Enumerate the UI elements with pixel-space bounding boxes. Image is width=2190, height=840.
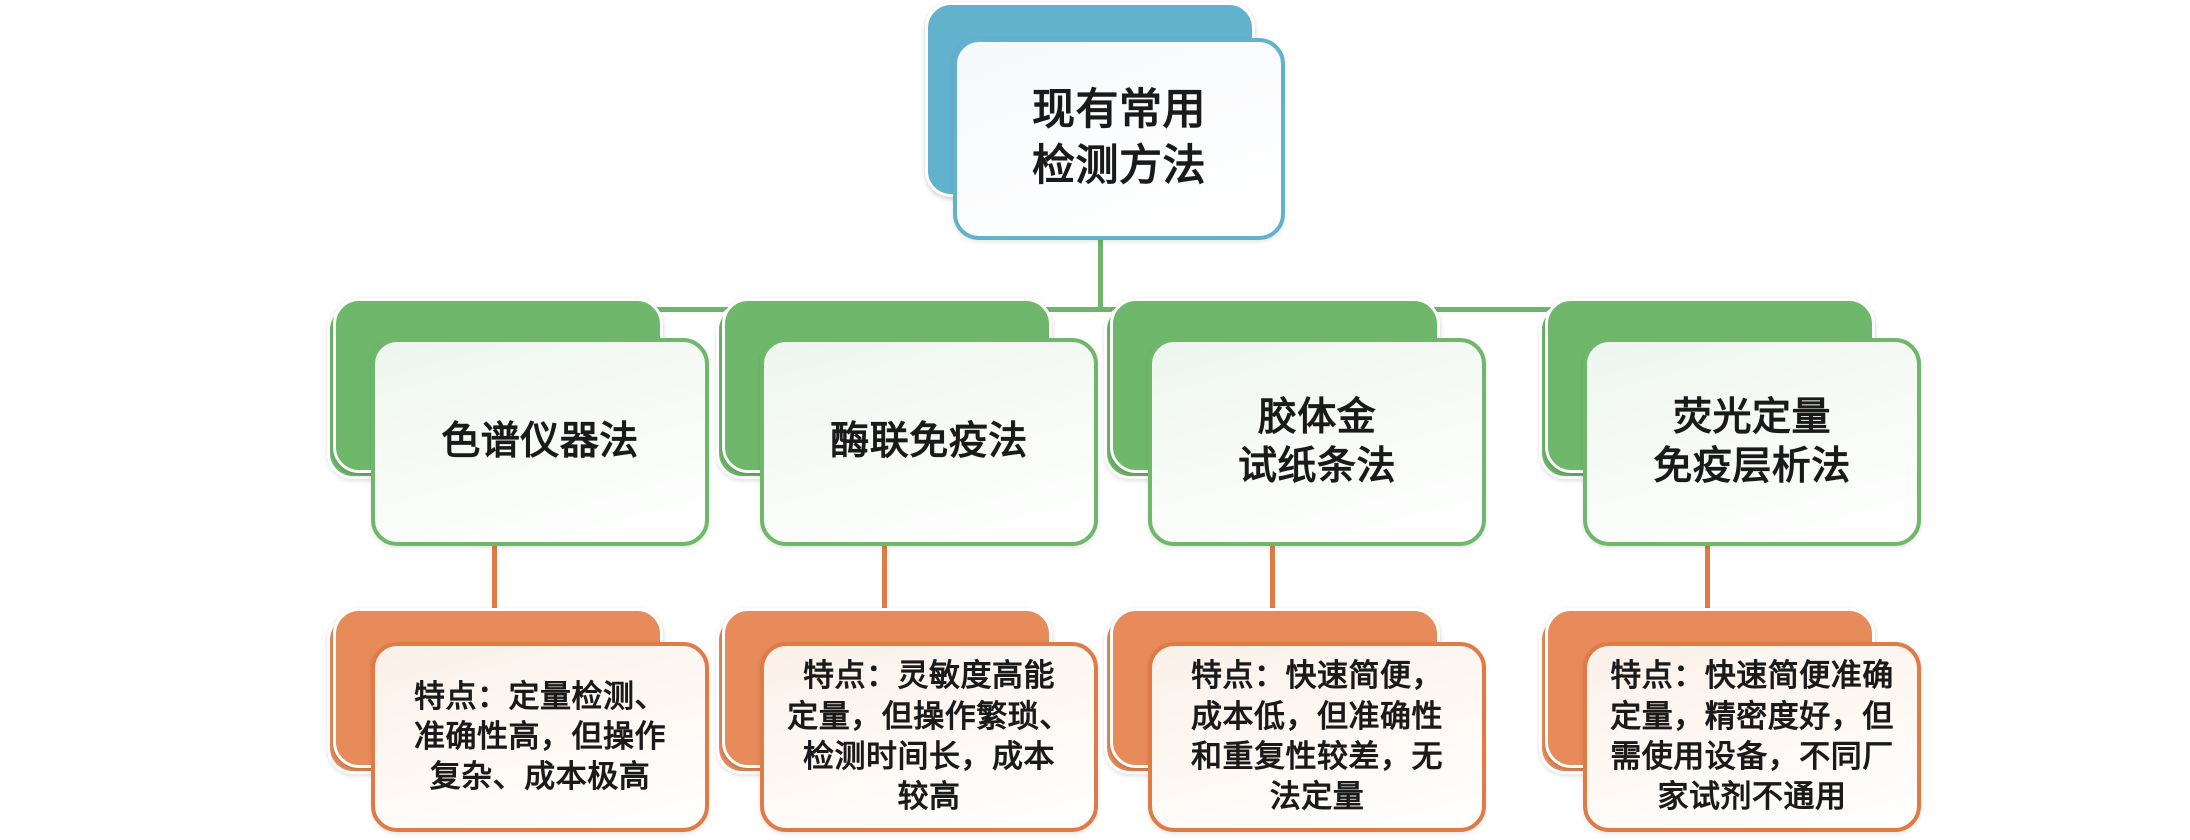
- connector-method-2-to-feature-2: [882, 540, 887, 612]
- node-feature-3-label: 特点：快速简便， 成本低，但准确性 和重复性较差，无 法定量: [1191, 656, 1443, 817]
- node-feature-1-label: 特点：定量检测、 准确性高，但操作 复杂、成本极高: [414, 677, 666, 798]
- node-root[interactable]: 现有常用 检测方法: [925, 2, 1285, 242]
- node-feature-4[interactable]: 特点：快速简便准确 定量，精密度好，但 需使用设备，不同厂 家试剂不通用: [1545, 608, 1925, 836]
- connector-method-1-to-feature-1: [492, 540, 497, 612]
- node-feature-2-card[interactable]: 特点：灵敏度高能 定量，但操作繁琐、 检测时间长，成本 较高: [760, 642, 1098, 832]
- node-feature-4-card[interactable]: 特点：快速简便准确 定量，精密度好，但 需使用设备，不同厂 家试剂不通用: [1583, 642, 1921, 832]
- node-method-2[interactable]: 酶联免疫法: [722, 298, 1102, 548]
- node-method-1-card[interactable]: 色谱仪器法: [371, 338, 709, 546]
- node-feature-1[interactable]: 特点：定量检测、 准确性高，但操作 复杂、成本极高: [333, 608, 713, 836]
- node-method-3[interactable]: 胶体金 试纸条法: [1110, 298, 1490, 548]
- node-method-4-label: 荧光定量 免疫层析法: [1653, 393, 1851, 491]
- diagram-canvas: 现有常用 检测方法 色谱仪器法 酶联免疫法 胶体金 试纸条法 荧光定量 免疫层析…: [0, 0, 2190, 840]
- node-method-1[interactable]: 色谱仪器法: [333, 298, 713, 548]
- node-method-3-card[interactable]: 胶体金 试纸条法: [1148, 338, 1486, 546]
- node-method-1-label: 色谱仪器法: [441, 417, 639, 466]
- node-feature-1-card[interactable]: 特点：定量检测、 准确性高，但操作 复杂、成本极高: [371, 642, 709, 832]
- connector-method-4-to-feature-4: [1705, 540, 1710, 612]
- node-method-2-label: 酶联免疫法: [830, 417, 1028, 466]
- node-method-4-card[interactable]: 荧光定量 免疫层析法: [1583, 338, 1921, 546]
- node-feature-2[interactable]: 特点：灵敏度高能 定量，但操作繁琐、 检测时间长，成本 较高: [722, 608, 1102, 836]
- node-root-card[interactable]: 现有常用 检测方法: [953, 38, 1285, 240]
- node-feature-3-card[interactable]: 特点：快速简便， 成本低，但准确性 和重复性较差，无 法定量: [1148, 642, 1486, 832]
- node-feature-2-label: 特点：灵敏度高能 定量，但操作繁琐、 检测时间长，成本 较高: [787, 656, 1071, 817]
- node-root-label: 现有常用 检测方法: [1032, 83, 1206, 195]
- connector-method-3-to-feature-3: [1270, 540, 1275, 612]
- node-method-4[interactable]: 荧光定量 免疫层析法: [1545, 298, 1925, 548]
- node-method-2-card[interactable]: 酶联免疫法: [760, 338, 1098, 546]
- node-feature-4-label: 特点：快速简便准确 定量，精密度好，但 需使用设备，不同厂 家试剂不通用: [1610, 656, 1894, 817]
- node-feature-3[interactable]: 特点：快速简便， 成本低，但准确性 和重复性较差，无 法定量: [1110, 608, 1490, 836]
- node-method-3-label: 胶体金 试纸条法: [1238, 393, 1396, 491]
